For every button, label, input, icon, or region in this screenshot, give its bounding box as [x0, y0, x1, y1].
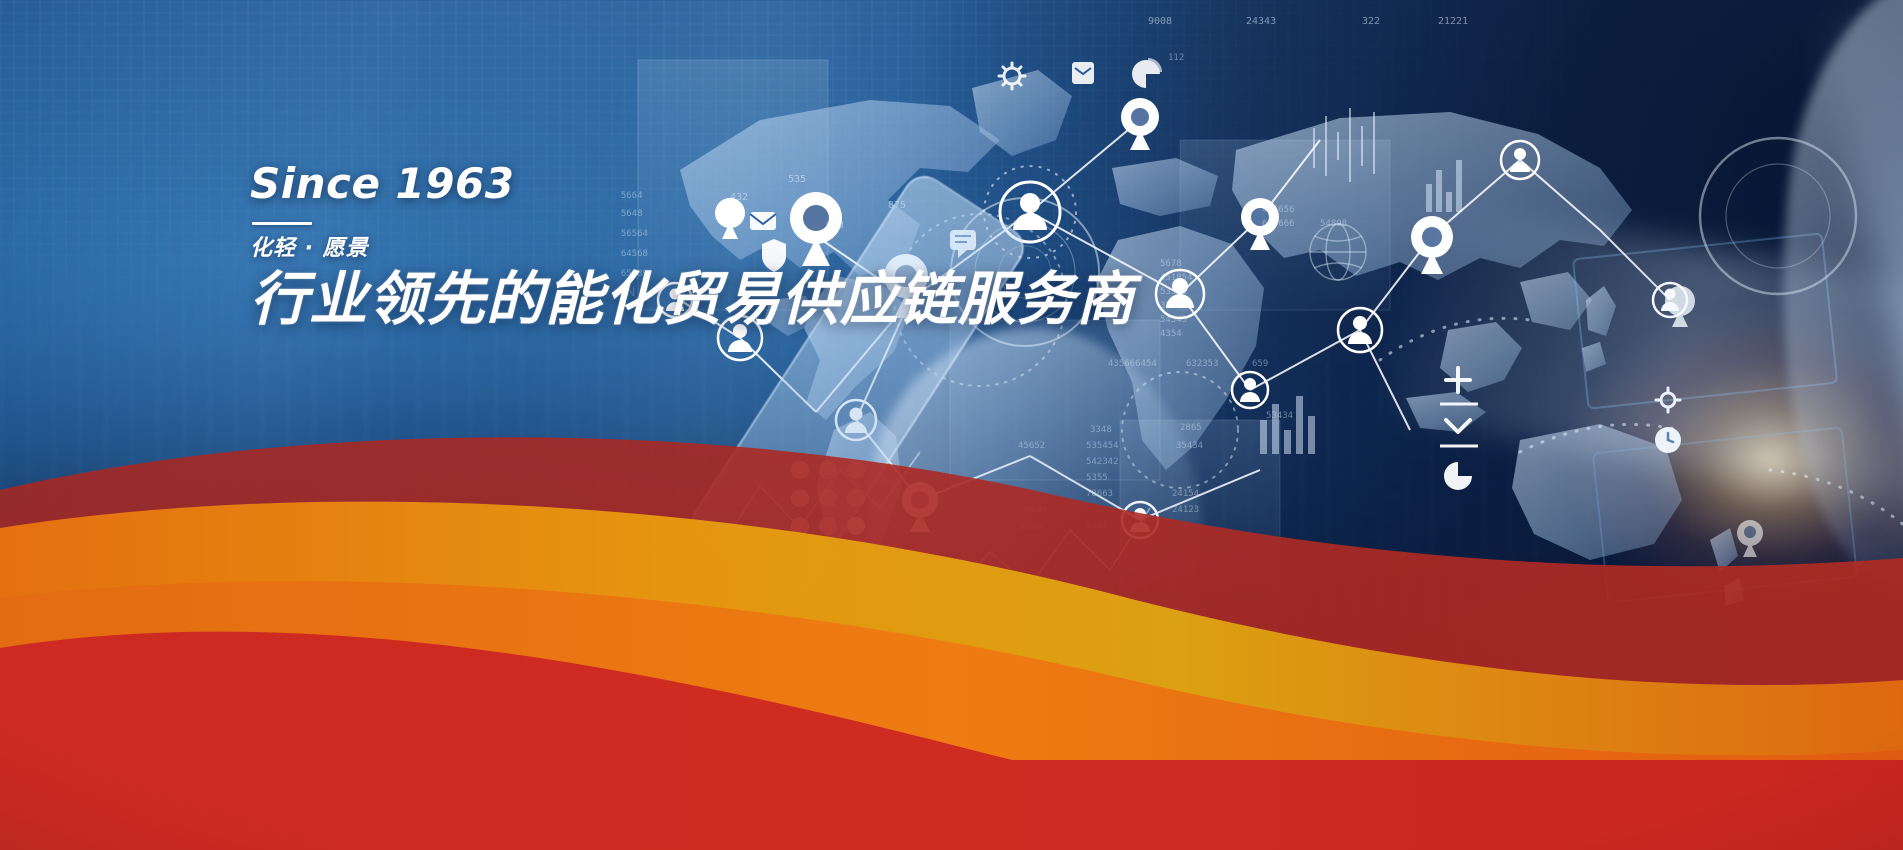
svg-text:53434: 53434	[1266, 411, 1293, 421]
svg-text:112: 112	[1168, 53, 1184, 63]
hero-headline: 行业领先的能化贸易供应链服务商	[250, 267, 1010, 331]
svg-text:53545: 53545	[1160, 287, 1187, 297]
svg-text:4354: 4354	[1160, 329, 1182, 339]
keyword-5: DEVELOPMENT	[620, 349, 623, 363]
hero-kicker: 化轻 · 愿景	[250, 235, 1010, 263]
svg-text:5678: 5678	[1160, 259, 1182, 269]
svg-text:659: 659	[1252, 359, 1268, 369]
bottom-wave-decoration	[0, 430, 1903, 850]
gear-icon	[999, 63, 1025, 89]
pie-chart-icon	[1132, 58, 1162, 88]
hero-banner: CORPORATE SUCCESS ENTERPRISE COLLABORATI…	[0, 0, 1903, 850]
divider-rule	[252, 222, 312, 225]
svg-text:355456: 355456	[1160, 301, 1193, 311]
svg-text:465656: 465656	[1262, 205, 1295, 215]
svg-text:9008: 9008	[1148, 16, 1172, 27]
svg-text:21221: 21221	[1438, 16, 1468, 27]
svg-text:677666: 677666	[1262, 219, 1295, 229]
svg-text:54543: 54543	[1160, 315, 1187, 325]
wave-red-base	[0, 760, 1903, 850]
svg-text:451854: 451854	[1160, 273, 1193, 283]
hero-copy: Since 1963 化轻 · 愿景 行业领先的能化贸易供应链服务商	[250, 160, 1010, 331]
svg-text:24343: 24343	[1246, 16, 1276, 27]
svg-text:322: 322	[1362, 16, 1380, 27]
mail-square-icon	[1072, 62, 1094, 84]
svg-text:632353: 632353	[1186, 359, 1219, 369]
since-label: Since 1963	[250, 160, 1010, 208]
svg-text:54898: 54898	[1320, 219, 1347, 229]
